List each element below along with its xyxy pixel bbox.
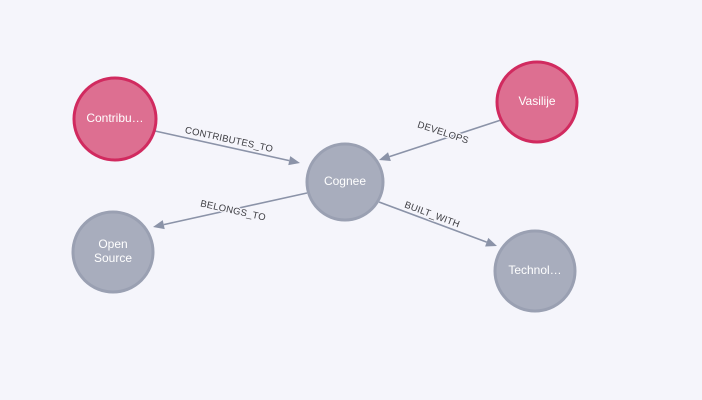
node-vasilije[interactable]: Vasilije — [497, 62, 577, 142]
edge-line — [379, 202, 487, 242]
graph-visualization[interactable]: Contribu…VasilijeCogneeOpenSourceTechnol… — [0, 0, 702, 400]
edge-arrowhead — [485, 238, 497, 247]
nodes-layer: Contribu…VasilijeCogneeOpenSourceTechnol… — [73, 62, 577, 311]
edge-label-develops: DEVELOPS — [416, 119, 470, 146]
node-label: Cognee — [324, 174, 366, 188]
edge-arrowhead — [379, 152, 391, 161]
node-cognee[interactable]: Cognee — [307, 144, 383, 220]
node-open-source[interactable]: OpenSource — [73, 212, 153, 292]
graph-canvas[interactable]: Contribu…VasilijeCogneeOpenSourceTechnol… — [0, 0, 702, 400]
node-label: OpenSource — [94, 237, 132, 265]
edge-label-belongs-to: BELONGS_TO — [199, 198, 267, 223]
edge-arrowhead — [153, 220, 165, 229]
edge-built-with[interactable] — [379, 202, 497, 246]
node-contributor[interactable]: Contribu… — [74, 78, 156, 160]
edge-arrowhead — [288, 156, 300, 165]
node-label: Technol… — [508, 263, 561, 277]
node-label: Contribu… — [86, 111, 143, 125]
node-label: Vasilije — [518, 94, 555, 108]
node-technology[interactable]: Technol… — [495, 231, 575, 311]
edge-label-built-with: BUILT_WITH — [403, 200, 461, 231]
